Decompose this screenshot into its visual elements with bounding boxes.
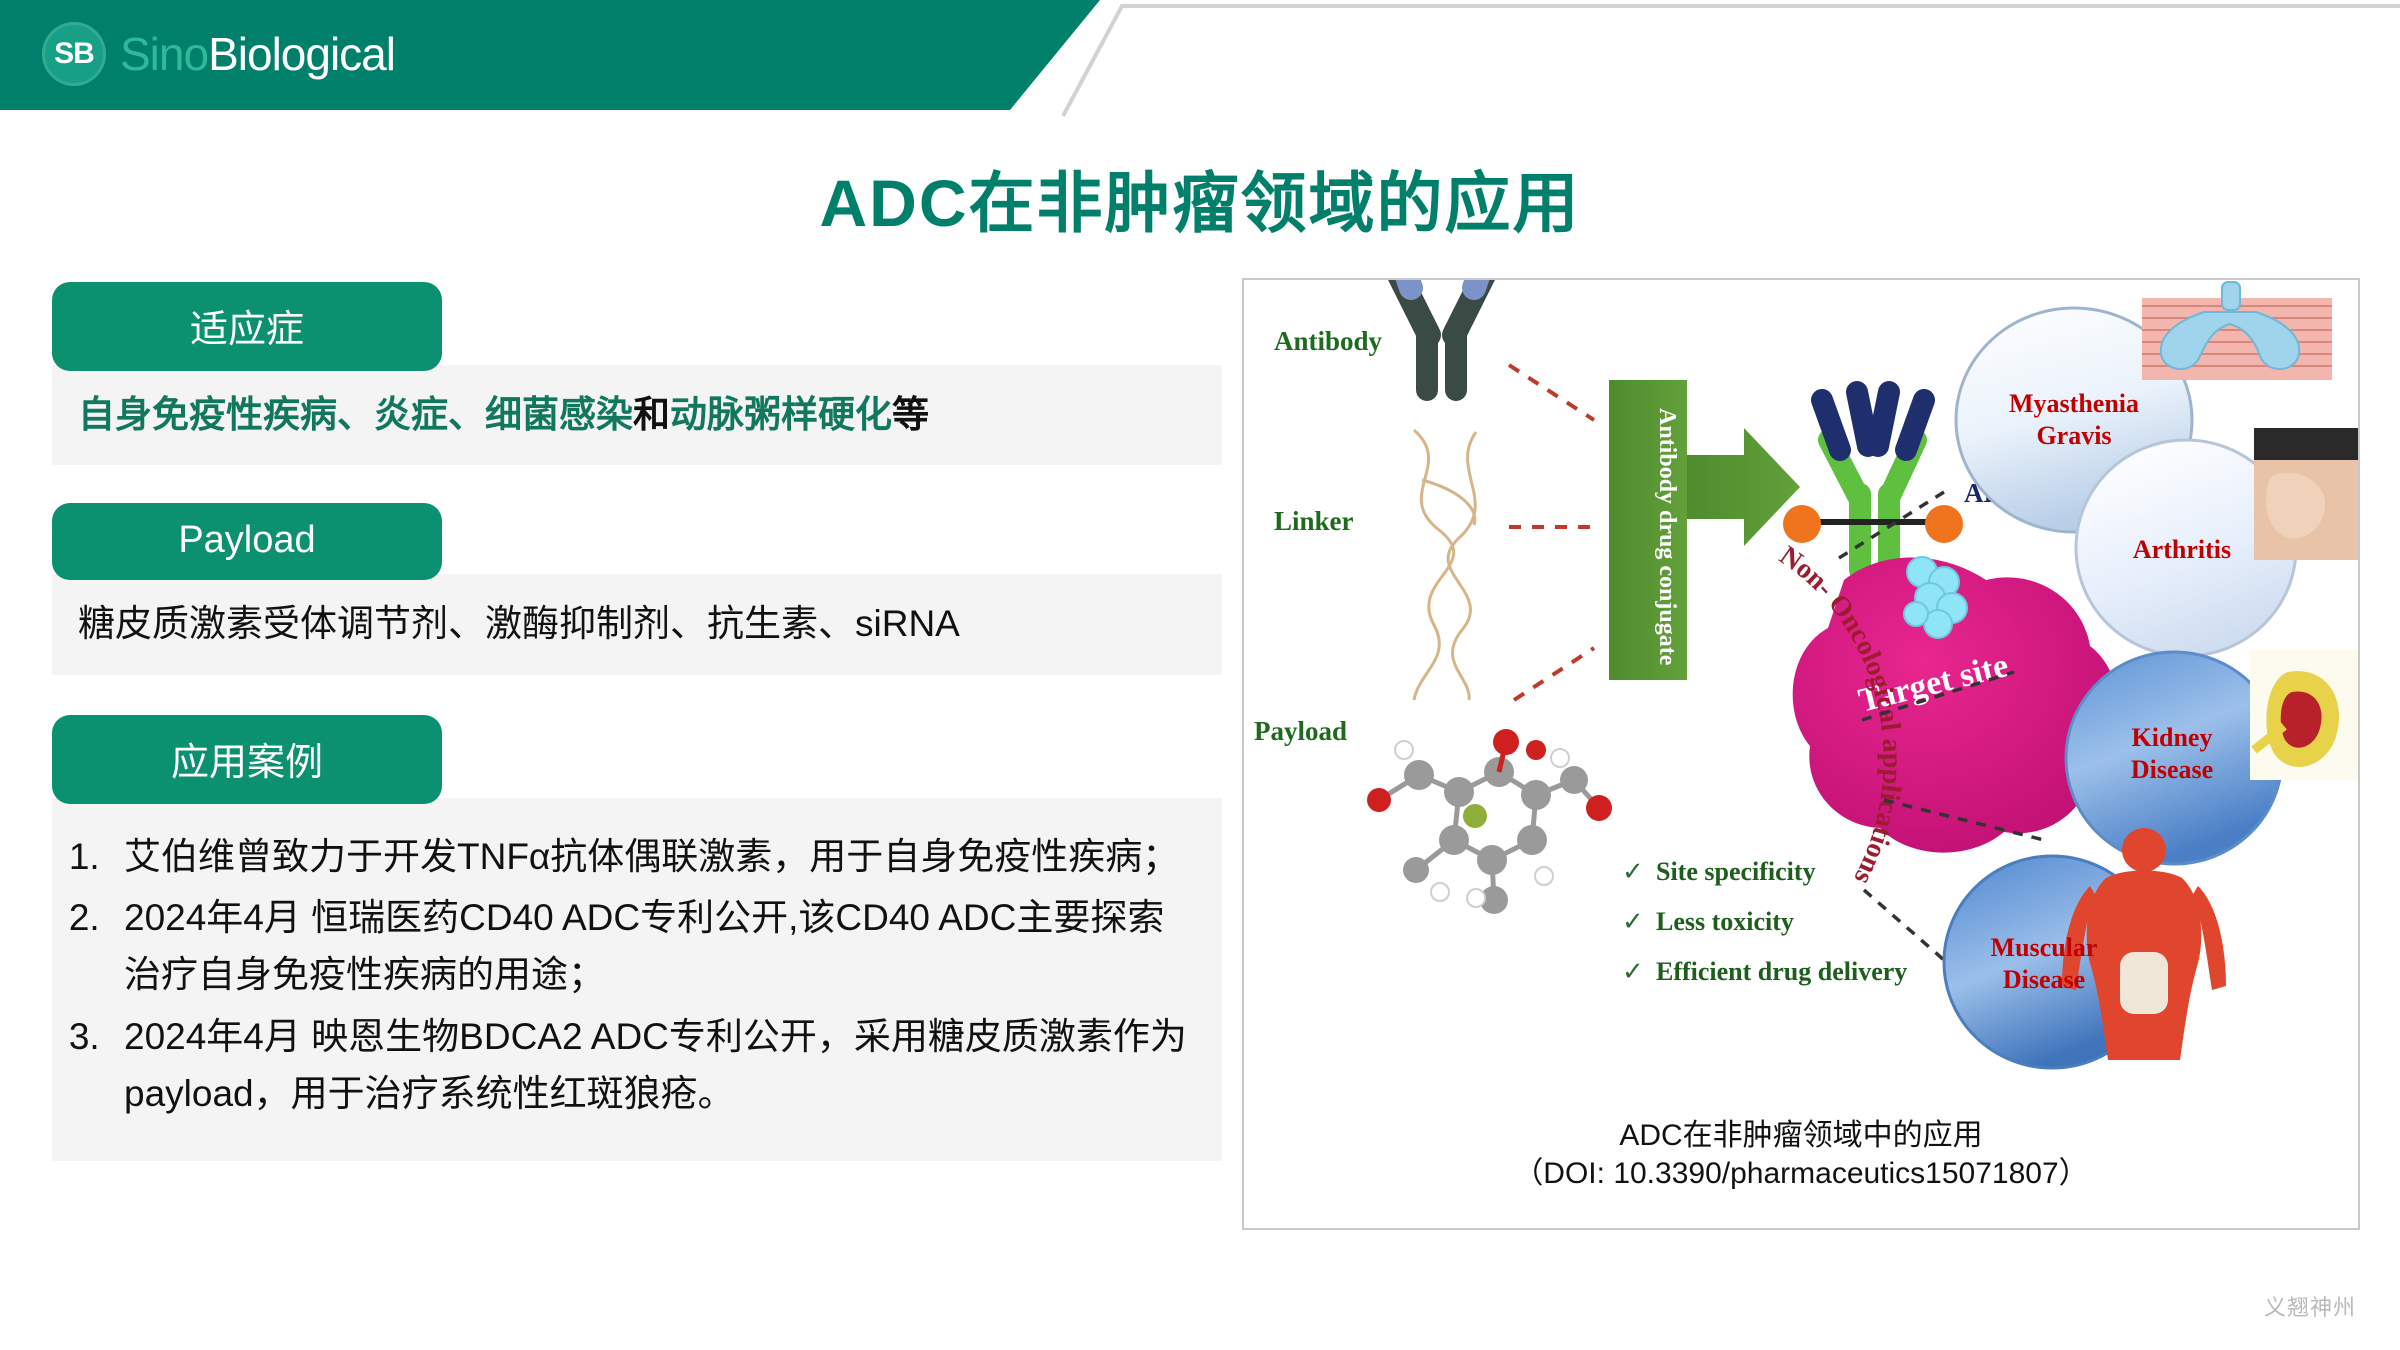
section-header-payload: Payload: [52, 503, 442, 580]
check-icon: ✓: [1622, 957, 1644, 986]
figure-arrow-label: Antibody drug conjugate: [1654, 408, 1680, 666]
disease-label: Myasthenia: [2009, 389, 2139, 418]
list-item: 艾伯维曾致力于开发TNFα抗体偶联激素，用于自身免疫性疾病；: [110, 828, 1196, 885]
disease-label: Disease: [2003, 965, 2085, 994]
list-item: 2024年4月 恒瑞医药CD40 ADC专利公开,该CD40 ADC主要探索治疗…: [110, 889, 1196, 1004]
indication-run-1: 自身免疫性疾病、炎症、细菌感染: [78, 394, 633, 435]
dashed-connectors: [1509, 365, 1594, 700]
check-icon: ✓: [1622, 907, 1644, 936]
indication-body: 自身免疫性疾病、炎症、细菌感染和动脉粥样硬化等: [52, 365, 1222, 465]
section-header-cases: 应用案例: [52, 715, 442, 804]
figure-label-antibody: Antibody: [1274, 326, 1383, 356]
disease-label: Disease: [2131, 755, 2213, 784]
indication-run-2: 和: [633, 394, 670, 435]
figure-caption-line-1: ADC在非肿瘤领域中的应用: [1244, 1117, 2358, 1155]
left-content-column: 适应症 自身免疫性疾病、炎症、细菌感染和动脉粥样硬化等 Payload 糖皮质激…: [52, 282, 1222, 1171]
disease-bubble-arthritis: Arthritis: [2076, 428, 2358, 656]
antibody-glyph: [1394, 280, 1491, 390]
figure-label-payload: Payload: [1254, 716, 1347, 746]
disease-label: Kidney: [2132, 723, 2213, 752]
section-header-indication: 适应症: [52, 282, 442, 371]
disease-label: Arthritis: [2133, 535, 2231, 564]
benefit-label: Site specificity: [1656, 857, 1816, 886]
disease-bubble-kidney-disease: Kidney Disease: [2066, 650, 2358, 864]
section-payload: Payload 糖皮质激素受体调节剂、激酶抑制剂、抗生素、siRNA: [52, 503, 1222, 674]
cases-body: 艾伯维曾致力于开发TNFα抗体偶联激素，用于自身免疫性疾病； 2024年4月 恒…: [52, 798, 1222, 1161]
payload-molecule-glyph: [1367, 729, 1612, 914]
page-title: ADC在非肿瘤领域的应用: [0, 150, 2400, 246]
logo-word-biological: Biological: [208, 28, 395, 80]
sb-badge-icon: SB: [42, 22, 106, 86]
adc-mechanism-diagram: Antibody Linker Payload: [1244, 280, 2358, 1110]
indication-run-3: 动脉粥样硬化: [670, 394, 892, 435]
antibody-drug-conjugate-arrow: Antibody drug conjugate: [1609, 380, 1800, 680]
payload-body: 糖皮质激素受体调节剂、激酶抑制剂、抗生素、siRNA: [52, 574, 1222, 674]
section-indication: 适应症 自身免疫性疾病、炎症、细菌感染和动脉粥样硬化等: [52, 282, 1222, 465]
list-item: 2024年4月 映恩生物BDCA2 ADC专利公开，采用糖皮质激素作为paylo…: [110, 1008, 1196, 1123]
benefit-label: Efficient drug delivery: [1656, 957, 1907, 986]
figure-caption: ADC在非肿瘤领域中的应用 （DOI: 10.3390/pharmaceutic…: [1244, 1117, 2358, 1192]
linker-glyph: [1414, 430, 1476, 700]
logo-word-sino: Sino: [120, 28, 208, 80]
sb-badge-text: SB: [54, 37, 94, 71]
disease-label: Gravis: [2036, 421, 2111, 450]
indication-run-4: 等: [892, 394, 929, 435]
section-cases: 应用案例 艾伯维曾致力于开发TNFα抗体偶联激素，用于自身免疫性疾病； 2024…: [52, 715, 1222, 1161]
figure-label-linker: Linker: [1274, 506, 1354, 536]
figure-caption-line-2: （DOI: 10.3390/pharmaceutics15071807）: [1244, 1155, 2358, 1193]
figure-panel: Antibody Linker Payload: [1242, 278, 2360, 1230]
cases-list: 艾伯维曾致力于开发TNFα抗体偶联激素，用于自身免疫性疾病； 2024年4月 恒…: [52, 828, 1196, 1123]
page-header: SB SinoBiological: [0, 0, 2400, 118]
benefit-label: Less toxicity: [1656, 907, 1794, 936]
disease-label: Muscular: [1991, 933, 2098, 962]
header-outline-decoration: [1060, 0, 2400, 118]
footer-brand: 义翘神州: [2264, 1290, 2356, 1322]
check-icon: ✓: [1622, 857, 1644, 886]
sino-biological-logo: SB SinoBiological: [42, 22, 395, 86]
